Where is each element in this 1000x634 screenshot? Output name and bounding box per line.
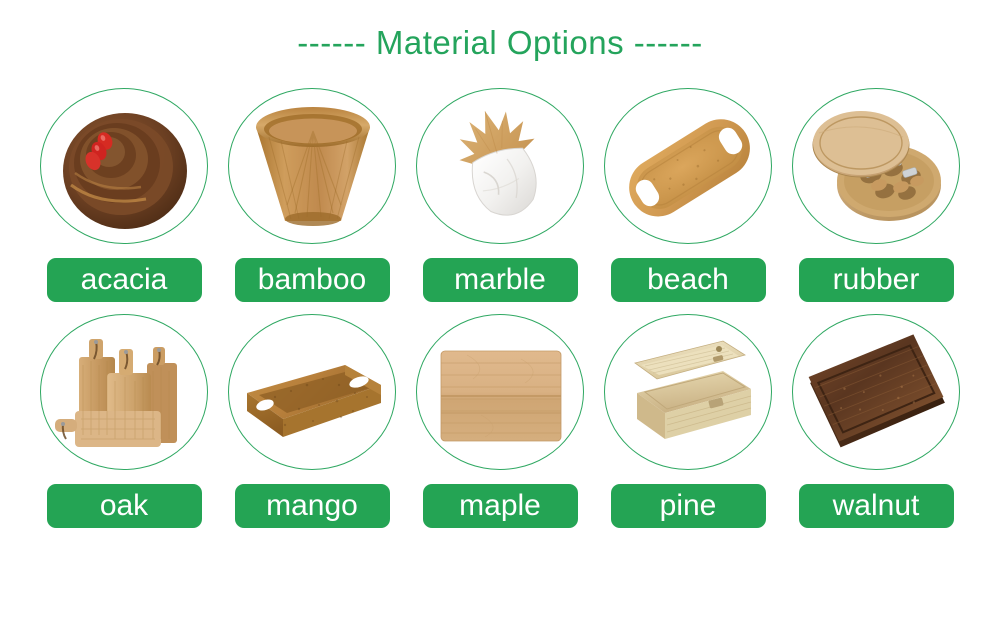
material-image-frame-rubber bbox=[792, 88, 960, 244]
material-options-page: ------ Material Options ------ bbox=[0, 0, 1000, 634]
oak-cutting-board-set-icon bbox=[41, 315, 209, 471]
material-cell-bamboo[interactable]: bamboo bbox=[218, 88, 406, 302]
beach-oval-tray-with-handles-icon bbox=[605, 89, 773, 245]
material-image-frame-pine bbox=[604, 314, 772, 470]
material-label-maple[interactable]: maple bbox=[423, 484, 578, 528]
material-row-2: oak bbox=[30, 314, 970, 528]
material-cell-beach[interactable]: beach bbox=[594, 88, 782, 302]
material-image-frame-beach bbox=[604, 88, 772, 244]
material-label-rubber[interactable]: rubber bbox=[799, 258, 954, 302]
page-title: ------ Material Options ------ bbox=[297, 24, 702, 62]
page-title-bar: ------ Material Options ------ bbox=[0, 24, 1000, 62]
material-image-frame-acacia bbox=[40, 88, 208, 244]
material-label-marble[interactable]: marble bbox=[423, 258, 578, 302]
material-label-acacia[interactable]: acacia bbox=[47, 258, 202, 302]
bamboo-conical-bowl-icon bbox=[229, 89, 397, 245]
walnut-grooved-cutting-board-icon bbox=[793, 315, 961, 471]
material-cell-walnut[interactable]: walnut bbox=[782, 314, 970, 528]
material-label-pine[interactable]: pine bbox=[611, 484, 766, 528]
pine-hinged-storage-box-icon bbox=[605, 315, 773, 471]
mango-rectangular-serving-tray-icon bbox=[229, 315, 397, 471]
material-grid: acacia bbox=[30, 88, 970, 528]
acacia-nested-round-plates-with-tomatoes-icon bbox=[41, 89, 209, 245]
material-label-oak[interactable]: oak bbox=[47, 484, 202, 528]
material-cell-maple[interactable]: maple bbox=[406, 314, 594, 528]
material-label-bamboo[interactable]: bamboo bbox=[235, 258, 390, 302]
material-image-frame-walnut bbox=[792, 314, 960, 470]
material-cell-marble[interactable]: marble bbox=[406, 88, 594, 302]
material-image-frame-marble bbox=[416, 88, 584, 244]
material-image-frame-maple bbox=[416, 314, 584, 470]
marble-pineapple-serving-board-icon bbox=[417, 89, 585, 245]
material-image-frame-mango bbox=[228, 314, 396, 470]
material-label-walnut[interactable]: walnut bbox=[799, 484, 954, 528]
maple-rectangular-cutting-board-icon bbox=[417, 315, 585, 471]
material-cell-pine[interactable]: pine bbox=[594, 314, 782, 528]
material-label-beach[interactable]: beach bbox=[611, 258, 766, 302]
rubber-round-cheese-board-set-icon bbox=[793, 89, 961, 245]
material-cell-oak[interactable]: oak bbox=[30, 314, 218, 528]
material-image-frame-bamboo bbox=[228, 88, 396, 244]
material-cell-mango[interactable]: mango bbox=[218, 314, 406, 528]
material-cell-rubber[interactable]: rubber bbox=[782, 88, 970, 302]
material-row-1: acacia bbox=[30, 88, 970, 302]
material-label-mango[interactable]: mango bbox=[235, 484, 390, 528]
material-image-frame-oak bbox=[40, 314, 208, 470]
material-cell-acacia[interactable]: acacia bbox=[30, 88, 218, 302]
